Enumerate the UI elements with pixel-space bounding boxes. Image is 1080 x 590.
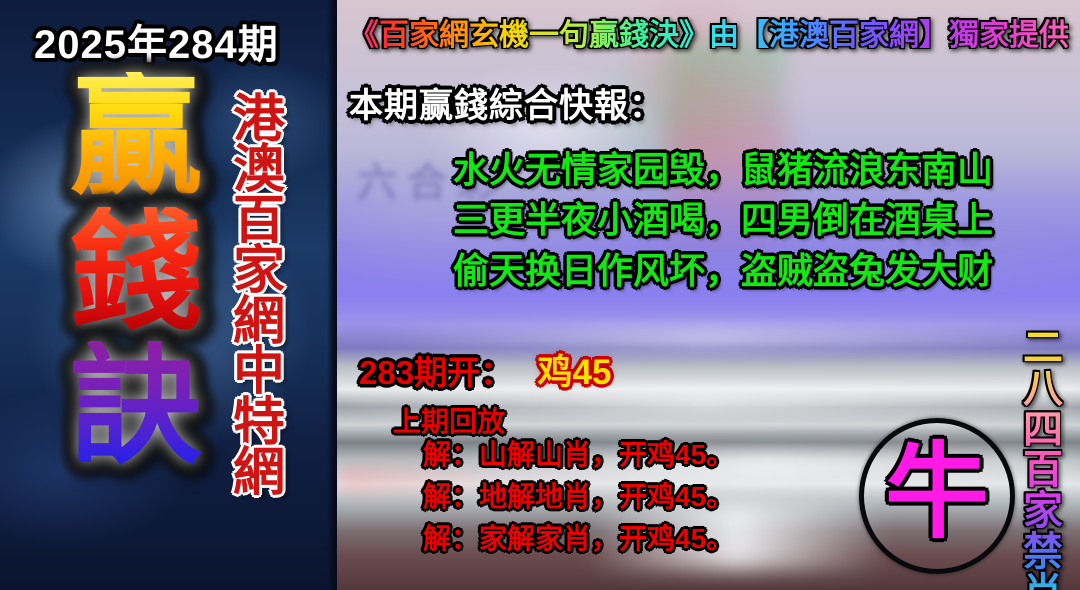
right-vert-char-5: 禁 xyxy=(1013,532,1073,573)
replay-list: 解：山解山肖，开鸡45。 解：地解地肖，开鸡45。 解：家解家肖，开鸡45。 xyxy=(423,434,734,560)
title-char-win: 贏 xyxy=(56,72,216,203)
zodiac-badge: 牛 xyxy=(859,418,1015,574)
poem-line-1: 水火无情家园毁，鼠猪流浪东南山 xyxy=(383,145,1063,195)
title-char-money: 錢 xyxy=(56,207,216,338)
header-banner-text: 《百家網玄機一句贏錢決》由【港澳百家網】獨家提供 xyxy=(341,10,1077,54)
poem-block: 水火无情家园毁，鼠猪流浪东南山 三更半夜小酒喝，四男倒在酒桌上 偷天换日作风坏，… xyxy=(383,145,1063,296)
replay-line-2: 解：地解地肖，开鸡45。 xyxy=(423,476,734,518)
issue-number-label: 2025年284期 xyxy=(34,12,279,70)
replay-line-3: 解：家解家肖，开鸡45。 xyxy=(423,518,734,560)
title-character-stack: 贏 錢 訣 xyxy=(56,72,216,472)
brand-char-0: 港 xyxy=(226,95,292,145)
right-vert-char-3: 百 xyxy=(1013,450,1073,491)
right-vertical-text: 二 八 四 百 家 禁 肖 xyxy=(1013,328,1073,590)
previous-result-label: 283期开： xyxy=(359,354,513,391)
brand-char-4: 網 xyxy=(226,297,292,347)
right-vert-char-0: 二 xyxy=(1013,328,1073,369)
brand-char-2: 百 xyxy=(226,196,292,246)
right-vert-char-6: 肖 xyxy=(1013,573,1073,590)
poem-line-2: 三更半夜小酒喝，四男倒在酒桌上 xyxy=(383,195,1063,245)
brand-char-7: 網 xyxy=(226,448,292,498)
previous-result-value: 鸡45 xyxy=(538,353,612,392)
right-panel: 六合彩 SIX 六合彩 《百家網玄機一句贏錢決》由【港澳百家網】獨家提供 本期赢… xyxy=(337,0,1080,590)
right-vert-char-1: 八 xyxy=(1013,369,1073,410)
brand-char-1: 澳 xyxy=(226,145,292,195)
title-char-secret: 訣 xyxy=(56,341,216,472)
right-vert-char-4: 家 xyxy=(1013,491,1073,532)
previous-result-row: 283期开： 鸡45 xyxy=(359,344,611,395)
brand-char-3: 家 xyxy=(226,246,292,296)
replay-line-1: 解：山解山肖，开鸡45。 xyxy=(423,434,734,476)
lottery-poster: 2025年284期 贏 錢 訣 港 澳 百 家 網 中 特 網 六合彩 SIX … xyxy=(0,0,1080,590)
brand-char-6: 特 xyxy=(226,398,292,448)
section-heading: 本期赢錢綜合快報： xyxy=(349,78,664,127)
poem-line-3: 偷天换日作风坏，盗贼盗兔发大财 xyxy=(383,246,1063,296)
right-vert-char-2: 四 xyxy=(1013,410,1073,451)
brand-char-5: 中 xyxy=(226,347,292,397)
left-brand-vertical-text: 港 澳 百 家 網 中 特 網 xyxy=(226,95,292,499)
zodiac-badge-char: 牛 xyxy=(885,441,989,545)
left-panel: 2025年284期 贏 錢 訣 港 澳 百 家 網 中 特 網 xyxy=(0,0,337,590)
